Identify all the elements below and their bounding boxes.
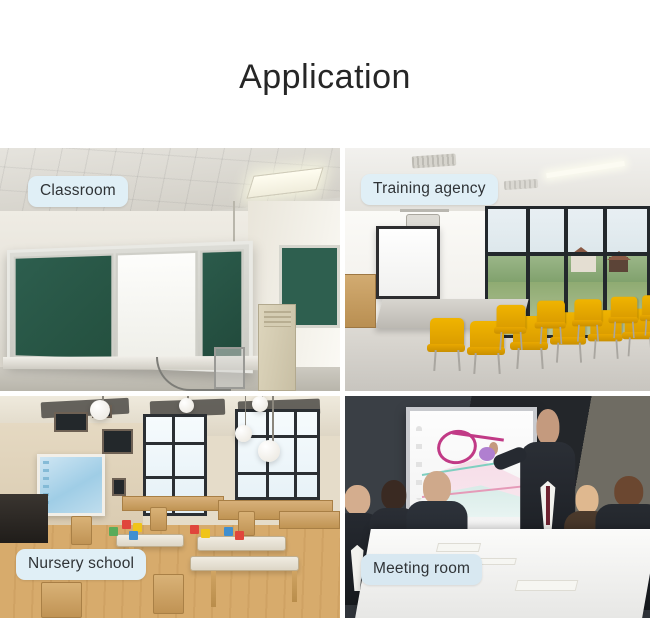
label-nursery-school: Nursery school xyxy=(16,549,146,580)
pendant-globe-light xyxy=(179,398,194,413)
toy-block xyxy=(235,531,244,540)
label-training-agency: Training agency xyxy=(361,174,498,205)
panel-classroom[interactable]: Classroom xyxy=(0,148,340,391)
toy-block xyxy=(133,523,142,532)
child-table xyxy=(116,534,184,547)
page-title: Application xyxy=(239,60,411,94)
nursery-school-photo xyxy=(0,396,340,618)
pendant-cord xyxy=(245,396,247,427)
projection-screen xyxy=(376,226,440,299)
paper-document xyxy=(478,558,516,565)
table-leg xyxy=(211,571,216,607)
child-table xyxy=(190,556,299,572)
window-transom xyxy=(488,252,647,256)
storage-shelf xyxy=(279,511,340,529)
toy-block xyxy=(109,527,118,536)
paper-document xyxy=(435,543,480,552)
pendant-cord xyxy=(272,396,274,443)
chair xyxy=(574,299,601,341)
air-conditioner xyxy=(258,304,295,391)
panel-training-agency[interactable]: Training agency xyxy=(345,148,650,391)
toy-block xyxy=(190,525,199,534)
wall-blackboard xyxy=(54,412,88,432)
ceiling-vent-icon-2 xyxy=(503,178,538,189)
chair xyxy=(497,305,526,349)
chair xyxy=(537,301,565,344)
label-classroom: Classroom xyxy=(28,176,128,207)
house-2 xyxy=(609,257,628,272)
storage-shelf xyxy=(122,496,224,512)
pendant-globe-light xyxy=(235,425,252,442)
chair xyxy=(430,318,464,370)
application-photo-grid: Classroom xyxy=(0,148,650,618)
toy-block xyxy=(122,520,131,529)
toy-block xyxy=(201,529,210,538)
paper-document xyxy=(514,580,578,591)
chalkboard-left xyxy=(14,254,114,361)
label-meeting-room: Meeting room xyxy=(361,554,482,585)
table-leg xyxy=(292,571,297,602)
child-chair xyxy=(71,516,91,545)
panel-nursery-school[interactable]: Nursery school xyxy=(0,396,340,618)
child-chair xyxy=(41,582,82,618)
wooden-cabinet xyxy=(345,274,376,327)
panel-meeting-room[interactable]: Meeting room xyxy=(345,396,650,618)
chair xyxy=(611,297,638,338)
toy-block xyxy=(129,531,138,540)
house-1 xyxy=(571,254,596,272)
interactive-whiteboard xyxy=(116,251,198,363)
child-chair xyxy=(153,574,184,614)
upright-piano xyxy=(0,494,48,543)
page-header: Application xyxy=(0,0,650,148)
application-page: Application xyxy=(0,0,650,632)
wall-blackboard xyxy=(112,478,126,496)
wall-blackboard xyxy=(102,429,133,453)
chair xyxy=(642,295,650,335)
child-chair xyxy=(150,507,167,531)
pendant-globe-light xyxy=(252,396,268,412)
toy-block xyxy=(224,527,233,536)
projector-arm xyxy=(400,209,449,212)
